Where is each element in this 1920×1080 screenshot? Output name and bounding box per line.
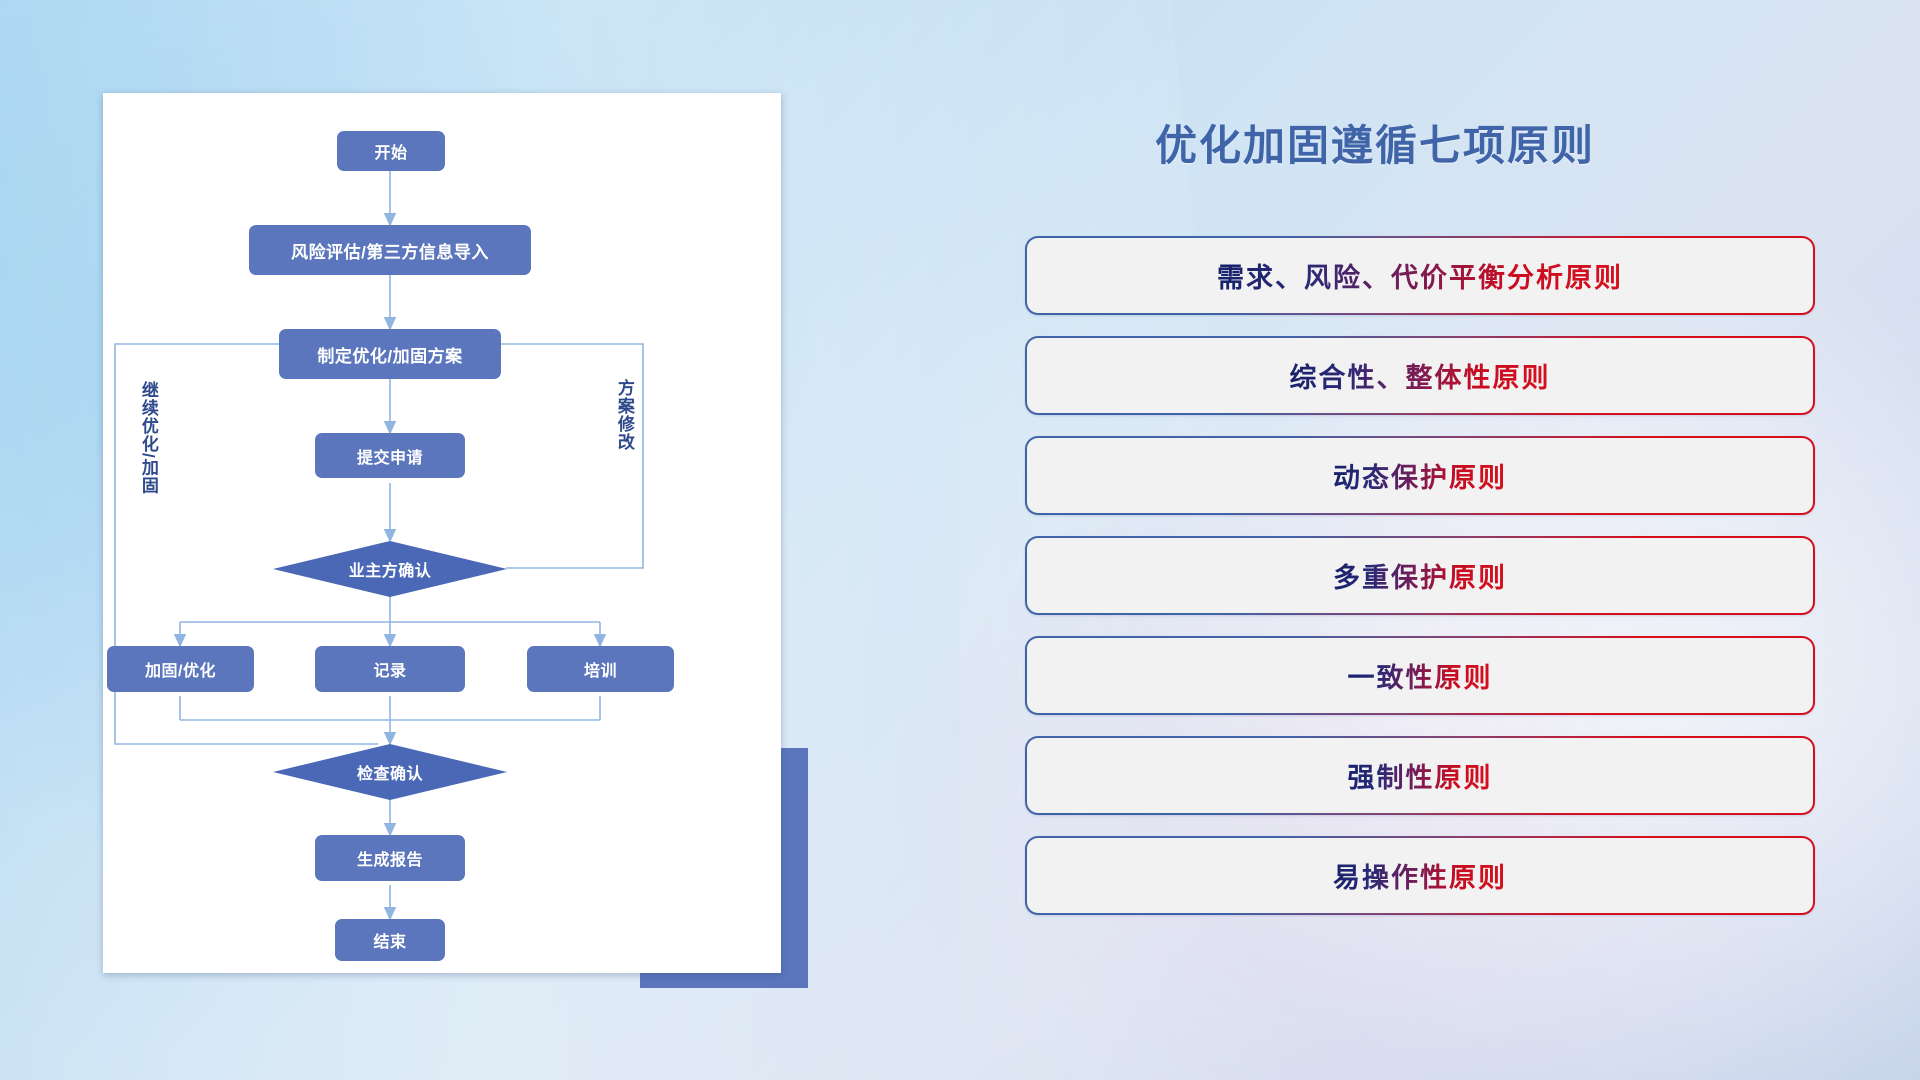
page-title: 优化加固遵循七项原则 [1155, 112, 1855, 173]
flow-node-record[interactable]: 记录 [315, 646, 465, 692]
principle-card-4[interactable]: 多重保护原则 [1025, 536, 1815, 615]
principle-label-1: 需求、风险、代价平衡分析原则 [1217, 256, 1623, 295]
principle-card-3[interactable]: 动态保护原则 [1025, 436, 1815, 515]
flow-node-plan[interactable]: 制定优化/加固方案 [279, 329, 501, 379]
principle-label-2: 综合性、整体性原则 [1290, 356, 1551, 395]
principle-card-5[interactable]: 一致性原则 [1025, 636, 1815, 715]
flow-node-submit-application[interactable]: 提交申请 [315, 433, 465, 478]
principle-label-3: 动态保护原则 [1333, 456, 1507, 495]
flow-node-check-confirm-label: 检查确认 [357, 760, 423, 784]
flow-node-training[interactable]: 培训 [527, 646, 674, 692]
principle-label-4: 多重保护原则 [1333, 556, 1507, 595]
flow-node-start[interactable]: 开始 [337, 131, 445, 171]
edge-label-left-loop: 继续优化/加固 [139, 381, 157, 495]
principle-card-2[interactable]: 综合性、整体性原则 [1025, 336, 1815, 415]
flow-node-end[interactable]: 结束 [335, 919, 445, 961]
flowchart-card: 继续优化/加固 方案修改 开始 风险评估/第三方信息导入 制定优化/加固方案 提… [103, 93, 781, 973]
principle-label-7: 易操作性原则 [1333, 856, 1507, 895]
principle-label-5: 一致性原则 [1348, 656, 1493, 695]
flow-node-check-confirm[interactable]: 检查确认 [273, 744, 507, 800]
edge-label-right-loop: 方案修改 [615, 379, 633, 451]
principle-card-6[interactable]: 强制性原则 [1025, 736, 1815, 815]
flow-node-owner-confirm-label: 业主方确认 [349, 557, 432, 581]
principle-card-1[interactable]: 需求、风险、代价平衡分析原则 [1025, 236, 1815, 315]
flow-node-risk-assessment[interactable]: 风险评估/第三方信息导入 [249, 225, 531, 275]
principle-label-6: 强制性原则 [1348, 756, 1493, 795]
slide-root: 继续优化/加固 方案修改 开始 风险评估/第三方信息导入 制定优化/加固方案 提… [0, 0, 1920, 1080]
principles-list: 需求、风险、代价平衡分析原则 综合性、整体性原则 动态保护原则 多重保护原则 一… [1025, 236, 1815, 936]
flow-node-owner-confirm[interactable]: 业主方确认 [273, 541, 507, 597]
principle-card-7[interactable]: 易操作性原则 [1025, 836, 1815, 915]
flow-node-reinforce[interactable]: 加固/优化 [107, 646, 254, 692]
flow-node-generate-report[interactable]: 生成报告 [315, 835, 465, 881]
